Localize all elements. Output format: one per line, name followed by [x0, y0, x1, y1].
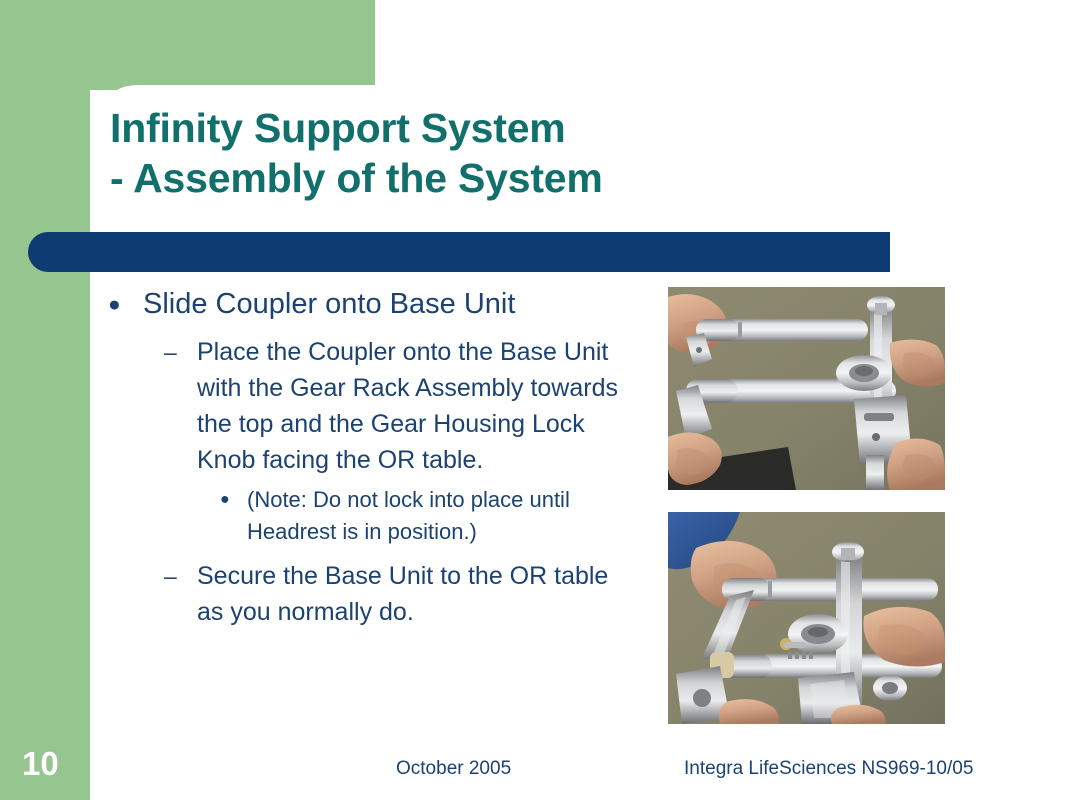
slide-page-number: 10	[22, 744, 59, 784]
slide-title-line-2: - Assembly of the System	[110, 153, 890, 203]
bullet-level1-slide-coupler: ● Slide Coupler onto Base Unit	[108, 283, 643, 326]
slide-title: Infinity Support System - Assembly of th…	[110, 103, 890, 203]
presentation-slide: Infinity Support System - Assembly of th…	[0, 0, 1067, 800]
photo-coupler-base-unit-alignment	[668, 287, 945, 490]
green-accent-strip-left	[0, 0, 90, 800]
bullet-dash-icon: –	[164, 558, 197, 594]
bullet-level3-text: (Note: Do not lock into place until Head…	[247, 484, 640, 548]
bullet-level2-secure-base-unit: – Secure the Base Unit to the OR table a…	[164, 558, 634, 630]
photo-2-graphic	[668, 512, 945, 724]
navy-divider-bar	[28, 232, 890, 272]
photo-coupler-sliding-onto-base-unit	[668, 512, 945, 724]
spacer	[108, 548, 643, 558]
slide-body: ● Slide Coupler onto Base Unit – Place t…	[108, 283, 643, 630]
bullet-dash-icon: –	[164, 334, 197, 370]
footer-date: October 2005	[396, 757, 511, 781]
bullet-level2-place-coupler: – Place the Coupler onto the Base Unit w…	[164, 334, 634, 478]
photo-1-graphic	[668, 287, 945, 490]
bullet-level1-text: Slide Coupler onto Base Unit	[143, 283, 643, 326]
footer-source: Integra LifeSciences NS969-10/05	[684, 757, 973, 781]
bullet-level2-text: Secure the Base Unit to the OR table as …	[197, 558, 634, 630]
bullet-dot-icon: ●	[220, 484, 247, 516]
bullet-dot-icon: ●	[108, 283, 143, 326]
bullet-level2-text: Place the Coupler onto the Base Unit wit…	[197, 334, 634, 478]
slide-title-line-1: Infinity Support System	[110, 103, 890, 153]
bullet-level3-note: ● (Note: Do not lock into place until He…	[220, 484, 640, 548]
